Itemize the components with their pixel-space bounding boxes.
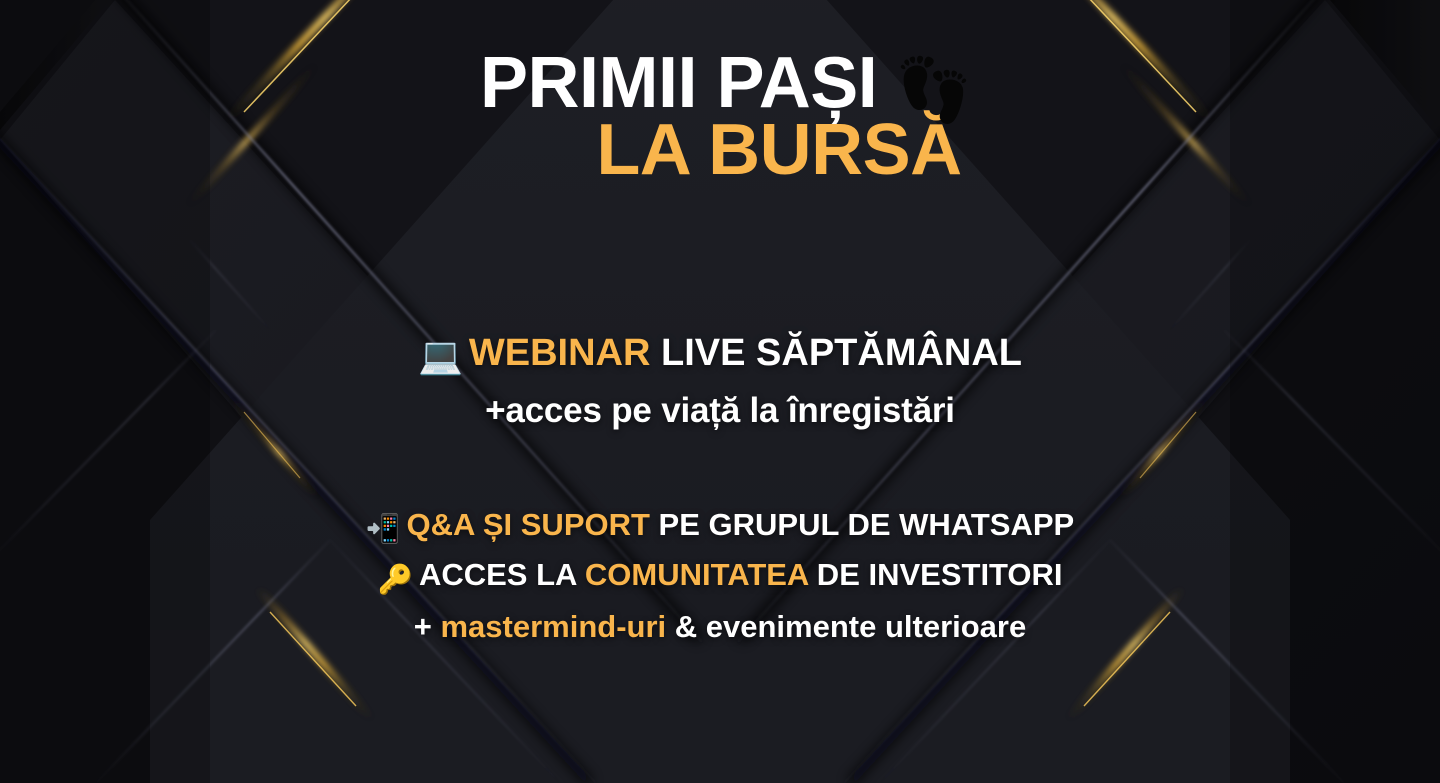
benefit-webinar-sub: +acces pe viață la înregistări xyxy=(418,390,1022,431)
slide-content: PRIMII PAȘI👣 LA BURSĂ 💻WEBINAR LIVE SĂPT… xyxy=(0,0,1440,783)
footprints-icon: 👣 xyxy=(895,56,972,125)
benefit-group-community: 📲Q&A ȘI SUPORT PE GRUPUL DE WHATSAPP 🔑AC… xyxy=(366,507,1074,645)
benefit-webinar: 💻WEBINAR LIVE SĂPTĂMÂNAL xyxy=(418,331,1022,378)
benefit-qa: 📲Q&A ȘI SUPORT PE GRUPUL DE WHATSAPP xyxy=(366,507,1074,546)
benefit-mastermind: + mastermind-uri & evenimente ulterioare xyxy=(366,609,1074,646)
laptop-icon: 💻 xyxy=(418,335,463,378)
promo-slide: PRIMII PAȘI👣 LA BURSĂ 💻WEBINAR LIVE SĂPT… xyxy=(0,0,1440,783)
page-title: PRIMII PAȘI👣 LA BURSĂ xyxy=(468,48,972,185)
mobile-phone-arrow-icon: 📲 xyxy=(366,513,401,546)
benefit-group-webinar: 💻WEBINAR LIVE SĂPTĂMÂNAL +acces pe viață… xyxy=(418,331,1022,431)
benefit-community-highlight: COMUNITATEA xyxy=(585,557,808,592)
benefit-mastermind-highlight: mastermind-uri xyxy=(440,609,666,644)
key-icon: 🔑 xyxy=(377,564,413,598)
benefit-webinar-rest: LIVE SĂPTĂMÂNAL xyxy=(650,332,1022,374)
benefit-community: 🔑ACCES LA COMUNITATEA DE INVESTITORI xyxy=(366,557,1074,598)
benefit-community-rest: DE INVESTITORI xyxy=(808,557,1062,592)
benefit-mastermind-prefix: + xyxy=(414,609,441,644)
benefit-mastermind-rest: & evenimente ulterioare xyxy=(666,609,1026,644)
benefit-qa-rest: PE GRUPUL DE WHATSAPP xyxy=(650,507,1074,542)
benefit-qa-highlight: Q&A ȘI SUPORT xyxy=(407,507,650,542)
benefit-community-prefix: ACCES LA xyxy=(419,557,585,592)
title-line-2: LA BURSĂ xyxy=(468,115,972,186)
title-line-1: PRIMII PAȘI👣 xyxy=(468,48,972,119)
benefit-webinar-highlight: WEBINAR xyxy=(469,332,651,374)
